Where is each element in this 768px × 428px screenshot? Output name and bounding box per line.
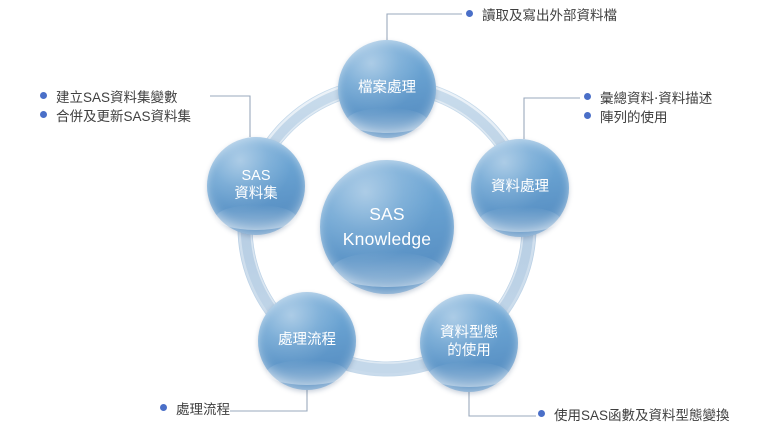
center-node-line2: Knowledge (343, 227, 431, 252)
node-sas-dataset[interactable]: SAS 資料集 (207, 137, 305, 235)
bullet-icon (584, 93, 591, 100)
callout-data-type-usage: 使用SAS函數及資料型態變換 (538, 404, 730, 423)
callout-file-processing: 讀取及寫出外部資料檔 (466, 4, 617, 23)
bullet-icon (538, 410, 545, 417)
node-data-type-usage[interactable]: 資料型態 的使用 (420, 294, 518, 392)
node-data-type-usage-line1: 資料型態 (440, 325, 498, 343)
node-process-flow[interactable]: 處理流程 (258, 292, 356, 390)
connector-datatype (469, 392, 536, 416)
callout-process-flow-item-1: 處理流程 (176, 398, 230, 418)
list-item: 處理流程 (160, 398, 230, 417)
callout-sas-dataset-item-2: 合併及更新SAS資料集 (56, 105, 191, 125)
node-file-processing-line1: 檔案處理 (358, 80, 416, 98)
callout-data-processing-item-2: 陣列的使用 (600, 106, 668, 126)
node-sas-dataset-line1: SAS (241, 168, 270, 186)
list-item: 使用SAS函數及資料型態變換 (538, 404, 730, 423)
bullet-icon (40, 111, 47, 118)
diagram-canvas: SAS Knowledge 檔案處理 SAS 資料集 資料處理 資料型態 的使用… (0, 0, 768, 428)
callout-data-processing-item-1: 彙總資料‧資料描述 (600, 87, 712, 107)
connector-dataproc (524, 98, 580, 139)
node-file-processing[interactable]: 檔案處理 (338, 40, 436, 138)
bullet-icon (40, 92, 47, 99)
node-data-processing-line1: 資料處理 (491, 179, 549, 197)
connector-file (387, 14, 462, 40)
center-node-line1: SAS (369, 202, 405, 227)
bullet-icon (466, 10, 473, 17)
node-process-flow-line1: 處理流程 (278, 332, 336, 350)
center-node-sas-knowledge[interactable]: SAS Knowledge (320, 160, 454, 294)
list-item: 彙總資料‧資料描述 (584, 87, 712, 106)
connector-flow (230, 390, 307, 411)
callout-data-processing: 彙總資料‧資料描述 陣列的使用 (584, 87, 712, 125)
callout-data-type-usage-item-1: 使用SAS函數及資料型態變換 (554, 404, 730, 424)
list-item: 陣列的使用 (584, 106, 712, 125)
node-data-processing[interactable]: 資料處理 (471, 139, 569, 237)
callout-process-flow: 處理流程 (160, 398, 230, 417)
connector-dataset (210, 96, 250, 137)
list-item: 讀取及寫出外部資料檔 (466, 4, 617, 23)
list-item: 合併及更新SAS資料集 (40, 105, 191, 124)
callout-sas-dataset-item-1: 建立SAS資料集變數 (56, 86, 178, 106)
list-item: 建立SAS資料集變數 (40, 86, 191, 105)
callout-sas-dataset: 建立SAS資料集變數 合併及更新SAS資料集 (40, 86, 191, 124)
node-sas-dataset-line2: 資料集 (234, 186, 278, 204)
callout-file-processing-item-1: 讀取及寫出外部資料檔 (482, 4, 617, 24)
bullet-icon (584, 112, 591, 119)
bullet-icon (160, 404, 167, 411)
node-data-type-usage-line2: 的使用 (447, 343, 491, 361)
